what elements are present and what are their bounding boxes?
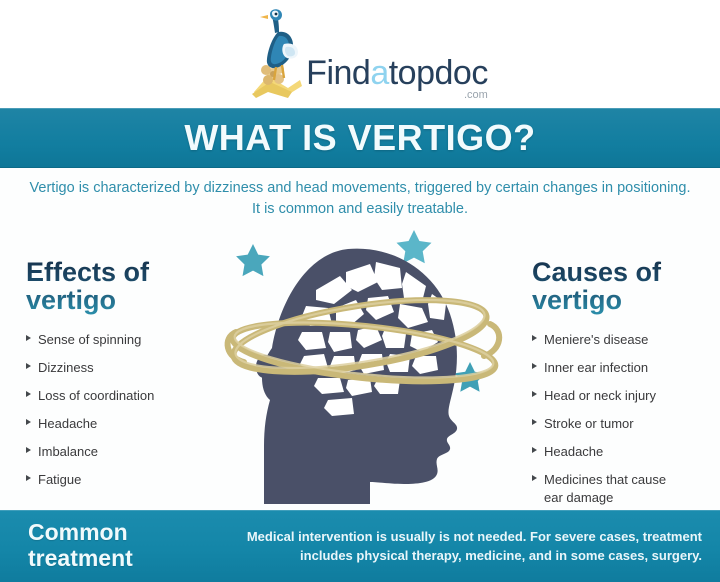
subtitle-description: Vertigo is characterized by dizziness an… [0, 178, 720, 220]
triangle-bullet-icon [532, 335, 537, 341]
triangle-bullet-icon [26, 475, 31, 481]
logo-lockup[interactable]: Findatopdoc .com [248, 8, 488, 100]
list-item-label-continued: ear damage [544, 489, 712, 506]
footer-banner: Common treatment Medical intervention is… [0, 510, 720, 582]
list-item: Imbalance [26, 443, 216, 460]
logo-word-find: Find [306, 54, 370, 92]
list-item-label: Sense of spinning [38, 332, 141, 347]
logo-word-topdoc: topdoc [389, 54, 488, 92]
list-item: Dizziness [26, 359, 216, 376]
stork-bird-mascot-icon [248, 8, 310, 100]
list-item: Headache [26, 415, 216, 432]
triangle-bullet-icon [26, 391, 31, 397]
subtitle-line-1: Vertigo is characterized by dizziness an… [30, 180, 598, 196]
effects-heading: Effects of vertigo [26, 258, 216, 315]
causes-column: Causes of vertigo Meniere's disease Inne… [532, 258, 712, 517]
triangle-bullet-icon [26, 419, 31, 425]
list-item-label: Inner ear infection [544, 360, 648, 375]
list-item-label: Medicines that cause [544, 472, 666, 487]
list-item: Loss of coordination [26, 387, 216, 404]
effects-list: Sense of spinning Dizziness Loss of coor… [26, 331, 216, 489]
triangle-bullet-icon [26, 447, 31, 453]
list-item-label: Stroke or tumor [544, 416, 634, 431]
list-item-label: Head or neck injury [544, 388, 656, 403]
triangle-bullet-icon [532, 391, 537, 397]
triangle-bullet-icon [532, 447, 537, 453]
page-title: WHAT IS VERTIGO? [184, 117, 535, 159]
triangle-bullet-icon [26, 335, 31, 341]
list-item-label: Headache [38, 416, 97, 431]
list-item: Medicines that causeear damage [532, 471, 712, 505]
triangle-bullet-icon [532, 363, 537, 369]
dizzy-head-with-cracked-brain-illustration [218, 228, 508, 506]
effects-heading-line-1: Effects of [26, 257, 149, 287]
effects-heading-line-2: vertigo [26, 286, 216, 314]
logo-header: Findatopdoc .com [0, 0, 720, 108]
footer-label: Common treatment [28, 520, 178, 572]
footer-label-line-1: Common [28, 519, 128, 545]
causes-heading-line-2: vertigo [532, 286, 712, 314]
triangle-bullet-icon [532, 419, 537, 425]
logo-word-a: a [370, 54, 388, 92]
list-item-label: Fatigue [38, 472, 81, 487]
footer-text-line-2: includes physical therapy, medicine, and… [178, 546, 702, 566]
title-banner: WHAT IS VERTIGO? [0, 108, 720, 168]
footer-text-line-1: Medical intervention is usually is not n… [178, 527, 702, 547]
list-item: Inner ear infection [532, 359, 712, 376]
list-item: Headache [532, 443, 712, 460]
triangle-bullet-icon [532, 475, 537, 481]
list-item: Meniere's disease [532, 331, 712, 348]
effects-column: Effects of vertigo Sense of spinning Diz… [26, 258, 216, 500]
list-item: Sense of spinning [26, 331, 216, 348]
list-item-label: Imbalance [38, 444, 98, 459]
logo-word-com: .com [464, 90, 488, 101]
causes-list: Meniere's disease Inner ear infection He… [532, 331, 712, 506]
causes-heading-line-1: Causes of [532, 257, 661, 287]
triangle-bullet-icon [26, 363, 31, 369]
causes-heading: Causes of vertigo [532, 258, 712, 315]
footer-description: Medical intervention is usually is not n… [178, 527, 720, 566]
list-item-label: Dizziness [38, 360, 94, 375]
list-item-label: Loss of coordination [38, 388, 154, 403]
infographic-canvas: Findatopdoc .com WHAT IS VERTIGO? Vertig… [0, 0, 720, 582]
list-item: Fatigue [26, 471, 216, 488]
list-item: Stroke or tumor [532, 415, 712, 432]
list-item-label: Headache [544, 444, 603, 459]
list-item: Head or neck injury [532, 387, 712, 404]
footer-label-line-2: treatment [28, 546, 178, 572]
logo-wordmark: Findatopdoc .com [306, 56, 488, 100]
list-item-label: Meniere's disease [544, 332, 648, 347]
